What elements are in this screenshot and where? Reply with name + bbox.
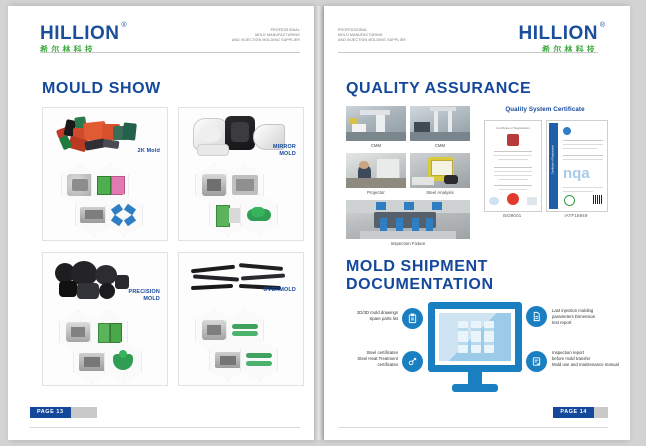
certificate-panel: Quality System Certificate Certificate o… xyxy=(482,106,608,230)
mould-card-mirror-label: MIRROR MOLD xyxy=(236,144,296,157)
qa-photo-caption: Steel Analysis xyxy=(410,188,470,197)
left-page-header: HILLION ® 希尔林科技 PROFESSIONAL MOLD MANUFA… xyxy=(40,24,300,54)
mould-card-precision[interactable]: PRECISION MOLD xyxy=(42,252,168,386)
mould-card-mirror[interactable]: MIRROR MOLD xyxy=(178,107,304,241)
mould-card-overmold-label: OVERMOLD xyxy=(236,287,296,294)
doc-item-injection-parameters[interactable]: Last injection molding parameters Dimens… xyxy=(526,306,622,332)
certificate-watermark: nqa xyxy=(563,165,605,183)
page-badge-tail xyxy=(71,407,97,418)
certificate-title: Quality System Certificate xyxy=(482,106,608,113)
qa-photo-caption: Inspection Fixture xyxy=(346,239,470,248)
doc-item-drawings[interactable]: 2D/3D mold drawings Spare parts list xyxy=(336,308,424,332)
footer-divider-right xyxy=(338,427,608,428)
mould-card-precision-label: PRECISION MOLD xyxy=(100,289,160,302)
brand-logo-left: HILLION ® 希尔林科技 xyxy=(40,24,120,55)
certificate-iso9001-caption: ISO9001 xyxy=(484,213,540,218)
left-page: HILLION ® 希尔林科技 PROFESSIONAL MOLD MANUFA… xyxy=(8,6,314,440)
certificate-iso9001[interactable]: Certificate of Registration xyxy=(484,120,542,212)
page-badge-tail xyxy=(594,407,608,418)
footer-divider-left xyxy=(30,427,300,428)
mould-card-2k-hex-cluster xyxy=(61,164,157,234)
page-badge-right: PAGE 14 xyxy=(553,407,608,418)
brand-name: HILLION xyxy=(40,24,120,43)
certificate-iatf16949-caption: IATF16949 xyxy=(546,213,606,218)
mold-shipment-title-line-1: MOLD SHIPMENT xyxy=(346,258,494,276)
page-number-right: PAGE 14 xyxy=(553,407,594,418)
qa-photo-cmm-1[interactable]: CMM xyxy=(346,106,406,150)
brand-chinese-name: 希尔林科技 xyxy=(519,44,599,55)
mould-card-overmold-hex-cluster xyxy=(195,309,293,379)
qa-photo-image xyxy=(346,106,406,141)
right-page: HILLION ® 希尔林科技 PROFESSIONAL MOLD MANUFA… xyxy=(324,6,630,440)
mold-shipment-title-line-2: DOCUMENTATION xyxy=(346,276,494,294)
trademark-icon: ® xyxy=(121,22,126,29)
mould-card-precision-hex-cluster xyxy=(59,311,157,381)
qa-photo-image xyxy=(346,153,406,188)
doc-item-inspection-report-text: Inspection report before mold transfer M… xyxy=(552,350,622,368)
mould-show-title: MOULD SHOW xyxy=(42,80,161,98)
qa-photo-image xyxy=(410,153,470,188)
header-divider-left xyxy=(40,52,300,53)
book-gutter xyxy=(314,6,324,440)
trademark-icon: ® xyxy=(600,22,605,29)
right-page-header: HILLION ® 希尔林科技 PROFESSIONAL MOLD MANUFA… xyxy=(338,24,598,54)
qa-photo-caption: CMM xyxy=(346,141,406,150)
header-tagline-right: PROFESSIONAL MOLD MANUFACTURING AND INJE… xyxy=(338,28,406,43)
qa-photo-inspection-fixture[interactable]: Inspection Fixture xyxy=(346,200,470,248)
mould-card-2k[interactable]: 2K Mold xyxy=(42,107,168,241)
brand-name: HILLION xyxy=(519,24,599,43)
doc-item-steel-certificates-text: Steel certificates Steel Heat Treatment … xyxy=(336,350,398,368)
page-number-left: PAGE 13 xyxy=(30,407,71,418)
brand-chinese-name: 希尔林科技 xyxy=(40,44,120,55)
wrench-gear-icon xyxy=(402,351,423,372)
document-icon xyxy=(526,306,547,327)
certificate-iatf16949[interactable]: Certificate of Registration nqa xyxy=(546,120,608,212)
catalog-spread: HILLION ® 希尔林科技 PROFESSIONAL MOLD MANUFA… xyxy=(0,0,646,446)
mold-shipment-title: MOLD SHIPMENT DOCUMENTATION xyxy=(346,258,494,294)
doc-item-steel-certificates[interactable]: Steel certificates Steel Heat Treatment … xyxy=(336,351,424,375)
header-tagline-left: PROFESSIONAL MOLD MANUFACTURING AND INJE… xyxy=(232,28,300,43)
monitor-binders-icon xyxy=(428,302,522,394)
certificate-heading: Certificate of Registration xyxy=(494,126,532,130)
qa-photo-projector[interactable]: Projector xyxy=(346,153,406,197)
mould-card-2k-label: 2K Mold xyxy=(100,148,160,155)
qa-photo-image xyxy=(346,200,470,239)
checklist-icon xyxy=(526,351,547,372)
qa-photo-image xyxy=(410,106,470,141)
tagline-line-3: AND INJECTION MOLDING SUPPLIER xyxy=(338,38,406,43)
doc-item-inspection-report[interactable]: Inspection report before mold transfer M… xyxy=(526,351,622,377)
qa-photo-caption: CMM xyxy=(410,141,470,150)
doc-item-injection-parameters-text: Last injection molding parameters Dimens… xyxy=(552,308,620,326)
clipboard-icon xyxy=(402,308,423,329)
qa-photo-caption: Projector xyxy=(346,188,406,197)
tagline-line-3: AND INJECTION MOLDING SUPPLIER xyxy=(232,38,300,43)
product-photo-overmold xyxy=(189,261,293,301)
header-divider-right xyxy=(338,52,598,53)
mould-card-overmold[interactable]: OVERMOLD xyxy=(178,252,304,386)
certificate-spine-text: Certificate of Registration xyxy=(549,142,558,178)
mould-card-mirror-hex-cluster xyxy=(195,164,293,234)
doc-item-drawings-text: 2D/3D mold drawings Spare parts list xyxy=(336,310,398,322)
qa-photo-steel-analysis[interactable]: Steel Analysis xyxy=(410,153,470,197)
page-badge-left: PAGE 13 xyxy=(30,407,97,418)
brand-logo-right: HILLION ® 希尔林科技 xyxy=(519,24,599,55)
quality-assurance-title: QUALITY ASSURANCE xyxy=(346,80,531,98)
qa-photo-cmm-2[interactable]: CMM xyxy=(410,106,470,150)
